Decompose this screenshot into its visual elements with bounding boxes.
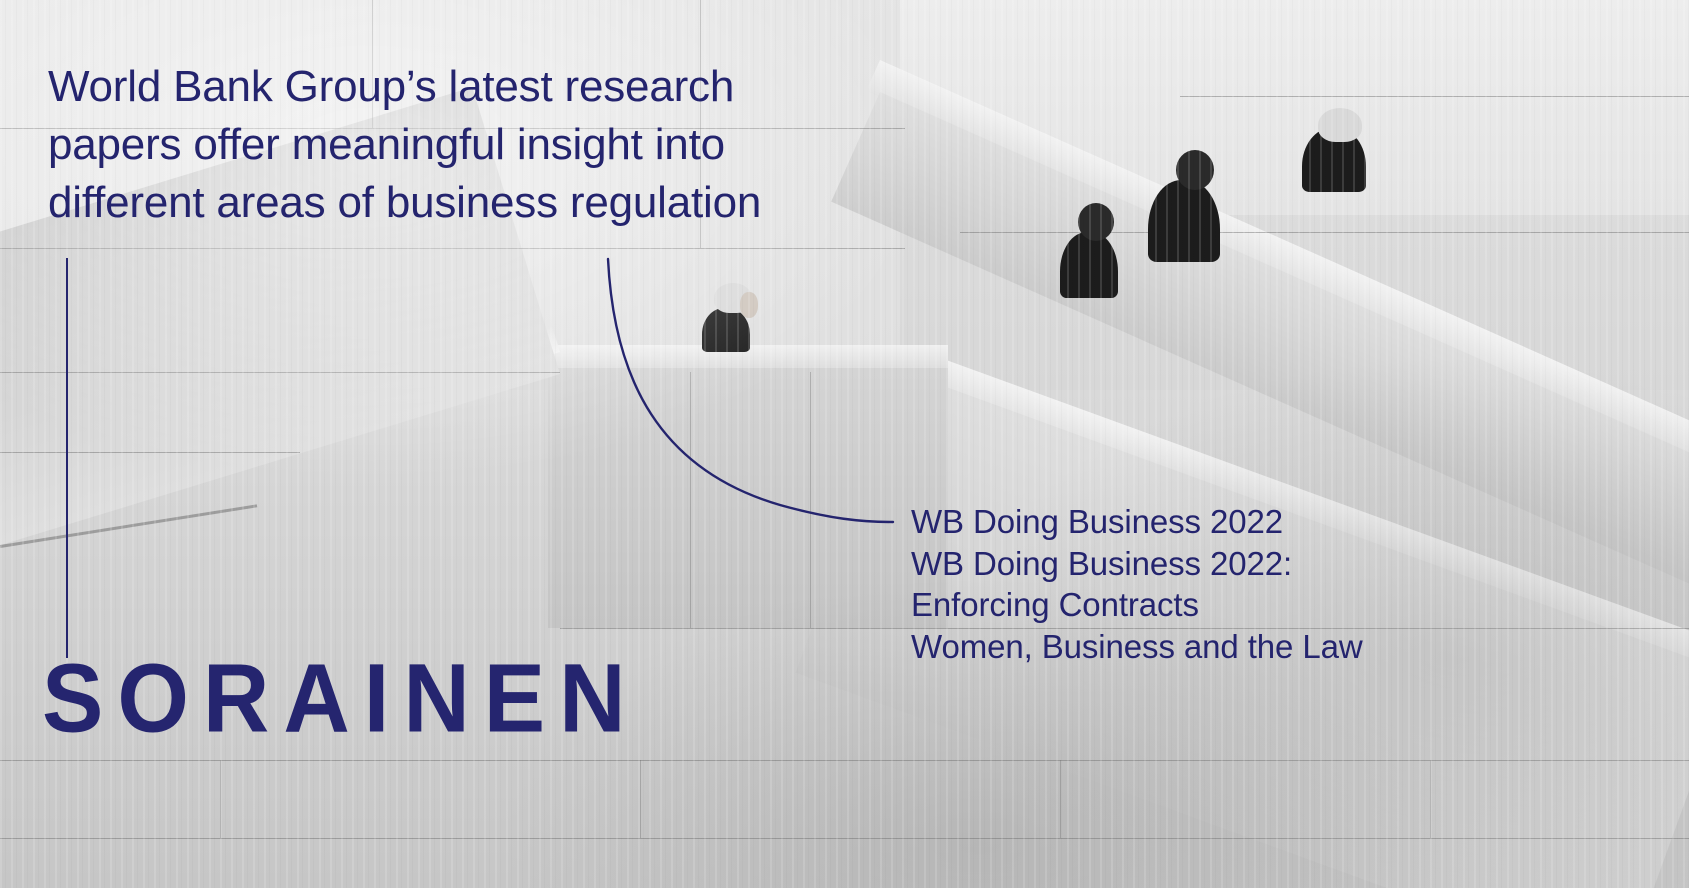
presentation-slide: World Bank Group’s latest research paper… [0,0,1689,888]
sorainen-logo: SORAINEN [42,648,640,750]
paper-list: WB Doing Business 2022 WB Doing Business… [911,501,1363,667]
list-item[interactable]: Women, Business and the Law [911,626,1363,668]
overlay-layer: World Bank Group’s latest research paper… [0,0,1689,888]
list-item[interactable]: WB Doing Business 2022 [911,501,1363,543]
list-item[interactable]: WB Doing Business 2022: Enforcing Contra… [911,543,1363,626]
page-title: World Bank Group’s latest research paper… [48,58,878,232]
vertical-connector-line [66,258,68,658]
